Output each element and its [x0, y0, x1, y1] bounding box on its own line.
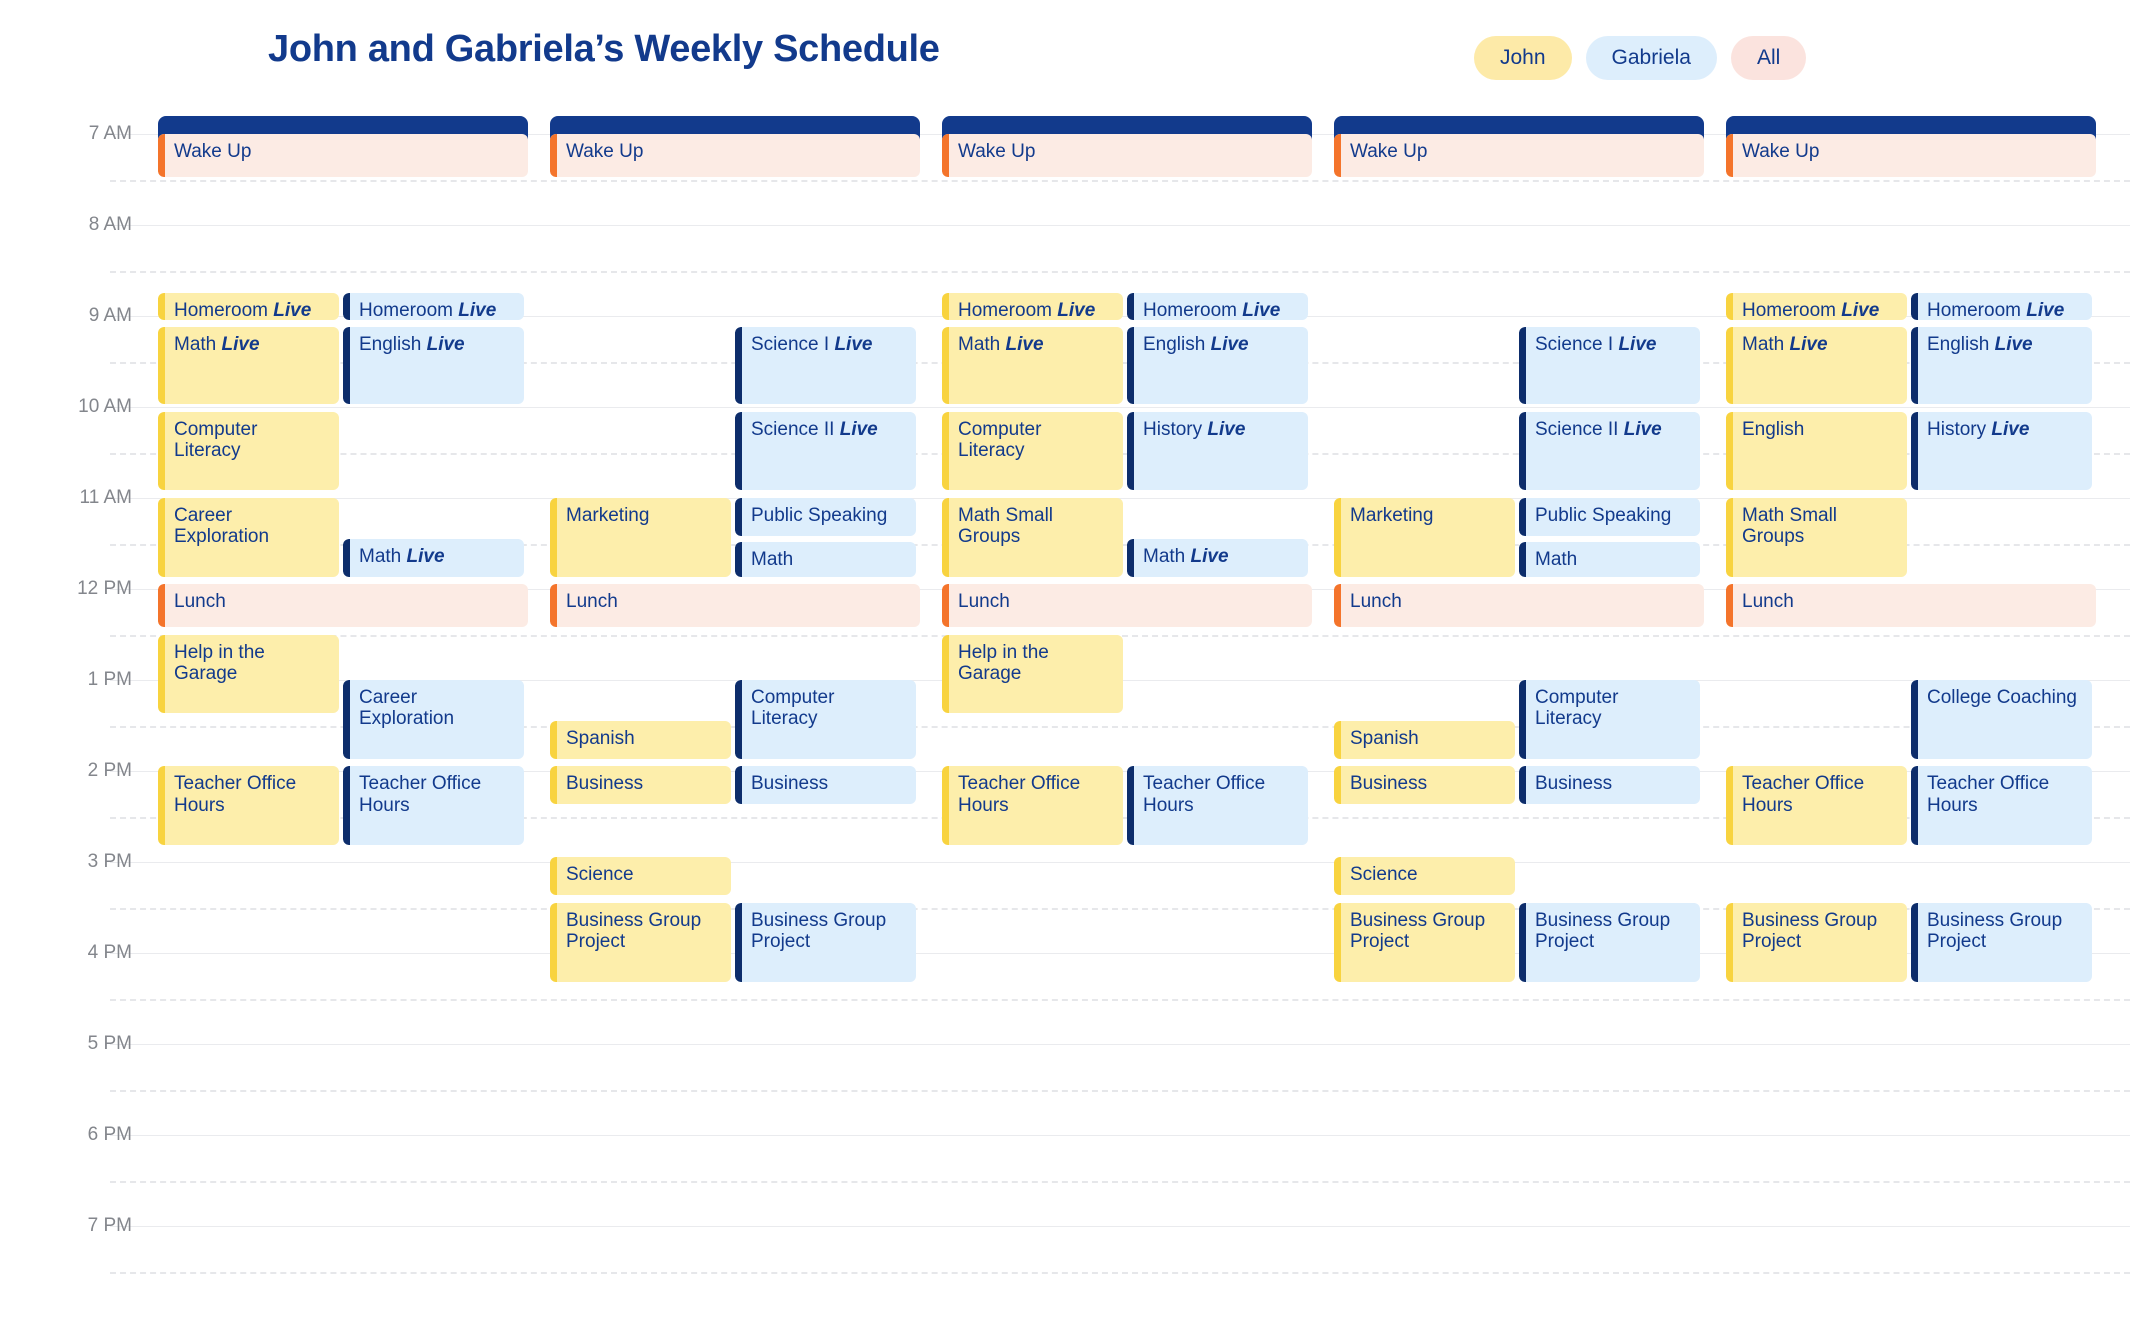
calendar-event[interactable]: Science	[1334, 857, 1515, 895]
calendar-event[interactable]: English Live	[343, 327, 524, 404]
time-label: 10 AM	[36, 396, 132, 418]
event-title: College Coaching	[1927, 687, 2082, 708]
event-title: Math Small Groups	[1742, 505, 1897, 548]
event-title: Business	[566, 773, 721, 794]
event-accent-bar	[1334, 134, 1341, 177]
hour-gridline	[110, 407, 2130, 408]
calendar-event[interactable]: Homeroom Live	[1127, 293, 1308, 320]
event-accent-bar	[942, 584, 949, 627]
hour-gridline	[110, 1226, 2130, 1227]
event-title: Career Exploration	[174, 505, 329, 548]
event-title: Science	[566, 864, 721, 885]
calendar-event[interactable]: Science I Live	[735, 327, 916, 404]
calendar-event[interactable]: Science II Live	[735, 412, 916, 491]
event-accent-bar	[1127, 327, 1134, 404]
calendar-event[interactable]: Marketing	[550, 498, 731, 577]
event-accent-bar	[1911, 327, 1918, 404]
event-title: Wake Up	[1742, 141, 2086, 162]
event-title: Homeroom Live	[1143, 300, 1298, 320]
event-title: Business Group Project	[1350, 910, 1505, 953]
calendar-event[interactable]: Teacher Office Hours	[343, 766, 524, 845]
calendar-event[interactable]: Math Small Groups	[942, 498, 1123, 577]
event-accent-bar	[1334, 857, 1341, 895]
half-hour-gridline	[110, 180, 2130, 182]
event-title: Math Live	[1742, 334, 1897, 355]
event-accent-bar	[1519, 412, 1526, 491]
calendar-event[interactable]: Math Live	[343, 539, 524, 577]
event-title: Lunch	[1742, 591, 2086, 612]
filter-pill-label: John	[1500, 46, 1546, 70]
filter-pill-gabriela[interactable]: Gabriela	[1586, 36, 1717, 80]
filter-pill-label: Gabriela	[1612, 46, 1691, 70]
event-accent-bar	[343, 327, 350, 404]
event-accent-bar	[1334, 903, 1341, 982]
calendar-event[interactable]: Wake Up	[942, 134, 1312, 177]
event-accent-bar	[1911, 680, 1918, 759]
event-accent-bar	[1726, 134, 1733, 177]
event-accent-bar	[158, 498, 165, 577]
time-label: 7 PM	[36, 1215, 132, 1237]
calendar-event[interactable]: Lunch	[550, 584, 920, 627]
filter-pill-group: JohnGabrielaAll	[1474, 36, 1806, 80]
calendar-event[interactable]: Math	[1519, 542, 1700, 577]
event-title: Business Group Project	[1535, 910, 1690, 953]
event-title: Spanish	[1350, 728, 1505, 749]
event-title: English	[1742, 419, 1897, 440]
calendar-event[interactable]: Business	[1519, 766, 1700, 804]
event-title: Lunch	[174, 591, 518, 612]
calendar-event[interactable]: Science II Live	[1519, 412, 1700, 491]
event-title: Teacher Office Hours	[958, 773, 1113, 816]
event-accent-bar	[158, 766, 165, 845]
calendar-event[interactable]: Teacher Office Hours	[942, 766, 1123, 845]
time-label: 2 PM	[36, 760, 132, 782]
event-accent-bar	[1127, 412, 1134, 491]
calendar-event[interactable]: College Coaching	[1911, 680, 2092, 759]
calendar-event[interactable]: Lunch	[942, 584, 1312, 627]
calendar-event[interactable]: Wake Up	[1726, 134, 2096, 177]
event-title: Business Group Project	[751, 910, 906, 953]
event-accent-bar	[1911, 903, 1918, 982]
event-accent-bar	[550, 903, 557, 982]
time-label: 11 AM	[36, 487, 132, 509]
event-title: Business	[1350, 773, 1505, 794]
event-accent-bar	[550, 134, 557, 177]
event-accent-bar	[343, 539, 350, 577]
calendar-event[interactable]: Homeroom Live	[942, 293, 1123, 320]
event-accent-bar	[1519, 498, 1526, 536]
calendar-event[interactable]: Business Group Project	[1726, 903, 1907, 982]
event-accent-bar	[735, 327, 742, 404]
event-accent-bar	[735, 542, 742, 577]
calendar-event[interactable]: Spanish	[1334, 721, 1515, 759]
calendar-event[interactable]: Science I Live	[1519, 327, 1700, 404]
event-title: Science	[1350, 864, 1505, 885]
calendar-event[interactable]: Wake Up	[158, 134, 528, 177]
event-title: English Live	[1927, 334, 2082, 355]
event-title: Public Speaking	[1535, 505, 1690, 526]
event-accent-bar	[1334, 584, 1341, 627]
calendar-event[interactable]: Computer Literacy	[942, 412, 1123, 491]
calendar-event[interactable]: English Live	[1911, 327, 2092, 404]
filter-pill-all[interactable]: All	[1731, 36, 1806, 80]
event-accent-bar	[550, 498, 557, 577]
calendar-event[interactable]: Business	[550, 766, 731, 804]
event-title: Help in the Garage	[174, 642, 329, 685]
event-accent-bar	[1127, 766, 1134, 845]
event-accent-bar	[1911, 766, 1918, 845]
event-title: Teacher Office Hours	[174, 773, 329, 816]
filter-pill-john[interactable]: John	[1474, 36, 1572, 80]
event-title: Math Live	[174, 334, 329, 355]
event-accent-bar	[942, 134, 949, 177]
event-accent-bar	[550, 857, 557, 895]
calendar-event[interactable]: Wake Up	[1334, 134, 1704, 177]
hour-gridline	[110, 1044, 2130, 1045]
event-title: Computer Literacy	[1535, 687, 1690, 730]
filter-pill-label: All	[1757, 46, 1780, 70]
event-title: Teacher Office Hours	[359, 773, 514, 816]
event-title: Computer Literacy	[958, 419, 1113, 462]
calendar-event[interactable]: Computer Literacy	[158, 412, 339, 491]
event-accent-bar	[1726, 584, 1733, 627]
event-title: Wake Up	[174, 141, 518, 162]
time-label: 5 PM	[36, 1033, 132, 1055]
calendar-event[interactable]: Math Live	[158, 327, 339, 404]
event-accent-bar	[942, 766, 949, 845]
event-title: Lunch	[1350, 591, 1694, 612]
calendar-event[interactable]: Math Small Groups	[1726, 498, 1907, 577]
time-label: 7 AM	[36, 123, 132, 145]
event-title: Wake Up	[958, 141, 1302, 162]
event-title: Homeroom Live	[1927, 300, 2082, 320]
event-accent-bar	[158, 327, 165, 404]
calendar-event[interactable]: Lunch	[1726, 584, 2096, 627]
event-accent-bar	[1726, 903, 1733, 982]
event-accent-bar	[1334, 721, 1341, 759]
event-accent-bar	[1127, 539, 1134, 577]
event-accent-bar	[1726, 498, 1733, 577]
event-accent-bar	[158, 584, 165, 627]
event-title: Math Live	[359, 546, 514, 567]
calendar-event[interactable]: History Live	[1127, 412, 1308, 491]
time-label: 3 PM	[36, 851, 132, 873]
event-accent-bar	[942, 498, 949, 577]
event-title: Science II Live	[751, 419, 906, 440]
event-accent-bar	[550, 721, 557, 759]
event-title: Math Live	[958, 334, 1113, 355]
calendar-event[interactable]: Career Exploration	[343, 680, 524, 759]
event-title: Wake Up	[566, 141, 910, 162]
event-title: Teacher Office Hours	[1143, 773, 1298, 816]
calendar-event[interactable]: Spanish	[550, 721, 731, 759]
event-accent-bar	[1519, 766, 1526, 804]
calendar-event[interactable]: Teacher Office Hours	[1726, 766, 1907, 845]
event-title: Business Group Project	[1742, 910, 1897, 953]
calendar-event[interactable]: Business Group Project	[1334, 903, 1515, 982]
time-label: 1 PM	[36, 669, 132, 691]
schedule-page: John and Gabriela’s Weekly Schedule John…	[0, 0, 2154, 1327]
calendar-event[interactable]: Career Exploration	[158, 498, 339, 577]
half-hour-gridline	[110, 1181, 2130, 1183]
event-accent-bar	[1519, 903, 1526, 982]
event-accent-bar	[1726, 293, 1733, 320]
time-label: 12 PM	[36, 578, 132, 600]
event-accent-bar	[1127, 293, 1134, 320]
event-title: Homeroom Live	[958, 300, 1113, 320]
event-accent-bar	[158, 635, 165, 714]
event-accent-bar	[158, 412, 165, 491]
event-title: Business Group Project	[566, 910, 721, 953]
event-title: Career Exploration	[359, 687, 514, 730]
event-accent-bar	[942, 635, 949, 714]
calendar-event[interactable]: Homeroom Live	[1911, 293, 2092, 320]
event-accent-bar	[343, 680, 350, 759]
event-title: Help in the Garage	[958, 642, 1113, 685]
event-title: Homeroom Live	[174, 300, 329, 320]
event-accent-bar	[942, 293, 949, 320]
calendar-event[interactable]: Marketing	[1334, 498, 1515, 577]
calendar-event[interactable]: History Live	[1911, 412, 2092, 491]
calendar-event[interactable]: Business Group Project	[1519, 903, 1700, 982]
hour-gridline	[110, 1135, 2130, 1136]
calendar-event[interactable]: Help in the Garage	[158, 635, 339, 714]
calendar-event[interactable]: Computer Literacy	[735, 680, 916, 759]
calendar-event[interactable]: Business	[735, 766, 916, 804]
time-label: 8 AM	[36, 214, 132, 236]
event-accent-bar	[158, 134, 165, 177]
calendar-event[interactable]: English Live	[1127, 327, 1308, 404]
calendar-event[interactable]: Lunch	[158, 584, 528, 627]
calendar-event[interactable]: Business	[1334, 766, 1515, 804]
time-label: 6 PM	[36, 1124, 132, 1146]
calendar-event[interactable]: Math	[735, 542, 916, 577]
event-title: Math Small Groups	[958, 505, 1113, 548]
calendar-event[interactable]: Teacher Office Hours	[1127, 766, 1308, 845]
calendar-event[interactable]: Business Group Project	[550, 903, 731, 982]
event-title: Teacher Office Hours	[1742, 773, 1897, 816]
event-accent-bar	[735, 412, 742, 491]
calendar-event[interactable]: Teacher Office Hours	[1911, 766, 2092, 845]
event-title: Spanish	[566, 728, 721, 749]
event-title: Marketing	[1350, 505, 1505, 526]
event-title: Homeroom Live	[359, 300, 514, 320]
half-hour-gridline	[110, 999, 2130, 1001]
event-title: English Live	[359, 334, 514, 355]
event-title: Math	[1535, 549, 1690, 570]
event-accent-bar	[343, 293, 350, 320]
calendar-event[interactable]: Wake Up	[550, 134, 920, 177]
calendar-event[interactable]: Public Speaking	[735, 498, 916, 536]
time-label: 9 AM	[36, 305, 132, 327]
event-title: Business	[751, 773, 906, 794]
event-accent-bar	[735, 766, 742, 804]
calendar-event[interactable]: English	[1726, 412, 1907, 491]
event-accent-bar	[735, 903, 742, 982]
event-accent-bar	[1334, 766, 1341, 804]
half-hour-gridline	[110, 1090, 2130, 1092]
event-title: History Live	[1143, 419, 1298, 440]
event-title: Science I Live	[751, 334, 906, 355]
calendar-event[interactable]: Public Speaking	[1519, 498, 1700, 536]
time-label: 4 PM	[36, 942, 132, 964]
hour-gridline	[110, 225, 2130, 226]
event-accent-bar	[1334, 498, 1341, 577]
event-title: Lunch	[958, 591, 1302, 612]
event-accent-bar	[1519, 542, 1526, 577]
event-title: Math	[751, 549, 906, 570]
calendar-event[interactable]: Teacher Office Hours	[158, 766, 339, 845]
half-hour-gridline	[110, 1272, 2130, 1274]
event-title: English Live	[1143, 334, 1298, 355]
event-accent-bar	[343, 766, 350, 845]
calendar-event[interactable]: Math Live	[1127, 539, 1308, 577]
event-accent-bar	[735, 680, 742, 759]
event-accent-bar	[550, 584, 557, 627]
event-title: Lunch	[566, 591, 910, 612]
event-title: Teacher Office Hours	[1927, 773, 2082, 816]
event-accent-bar	[158, 293, 165, 320]
page-title: John and Gabriela’s Weekly Schedule	[268, 28, 940, 71]
page-header: John and Gabriela’s Weekly Schedule John…	[0, 0, 2154, 112]
event-accent-bar	[1726, 766, 1733, 845]
event-accent-bar	[942, 327, 949, 404]
event-title: Computer Literacy	[751, 687, 906, 730]
calendar-event[interactable]: Business Group Project	[735, 903, 916, 982]
event-accent-bar	[1911, 293, 1918, 320]
event-title: Business Group Project	[1927, 910, 2082, 953]
half-hour-gridline	[110, 271, 2130, 273]
event-title: Public Speaking	[751, 505, 906, 526]
calendar-event[interactable]: Science	[550, 857, 731, 895]
event-title: Science II Live	[1535, 419, 1690, 440]
calendar-event[interactable]: Homeroom Live	[343, 293, 524, 320]
calendar-event[interactable]: Help in the Garage	[942, 635, 1123, 714]
event-title: Computer Literacy	[174, 419, 329, 462]
calendar-event[interactable]: Math Live	[942, 327, 1123, 404]
event-title: Homeroom Live	[1742, 300, 1897, 320]
event-accent-bar	[1519, 680, 1526, 759]
event-accent-bar	[1726, 412, 1733, 491]
calendar-event[interactable]: Math Live	[1726, 327, 1907, 404]
event-title: Wake Up	[1350, 141, 1694, 162]
event-title: Math Live	[1143, 546, 1298, 567]
event-accent-bar	[735, 498, 742, 536]
event-accent-bar	[942, 412, 949, 491]
event-title: Science I Live	[1535, 334, 1690, 355]
event-accent-bar	[550, 766, 557, 804]
event-title: History Live	[1927, 419, 2082, 440]
hour-gridline	[110, 862, 2130, 863]
calendar-event[interactable]: Business Group Project	[1911, 903, 2092, 982]
event-accent-bar	[1911, 412, 1918, 491]
event-accent-bar	[1519, 327, 1526, 404]
calendar-event[interactable]: Homeroom Live	[158, 293, 339, 320]
calendar-event[interactable]: Homeroom Live	[1726, 293, 1907, 320]
event-accent-bar	[1726, 327, 1733, 404]
calendar-event[interactable]: Lunch	[1334, 584, 1704, 627]
event-title: Business	[1535, 773, 1690, 794]
weekly-calendar-grid: 7 AM8 AM9 AM10 AM11 AM12 PM1 PM2 PM3 PM4…	[0, 112, 2154, 1327]
calendar-event[interactable]: Computer Literacy	[1519, 680, 1700, 759]
event-title: Marketing	[566, 505, 721, 526]
